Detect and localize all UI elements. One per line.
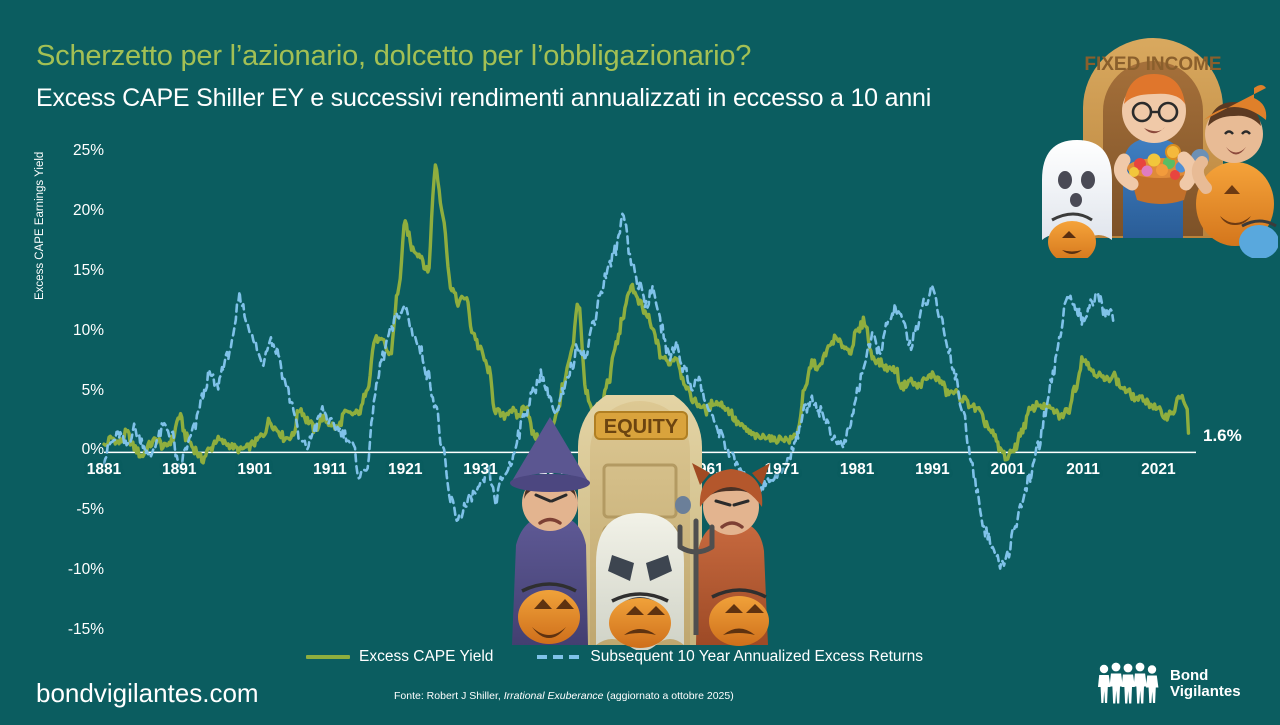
equity-door-illustration: EQUITY: [490, 395, 790, 650]
x-tick-label: 1881: [87, 461, 121, 479]
ghost-costume-figure: [1042, 140, 1112, 258]
x-tick-label: 1991: [915, 461, 949, 479]
angry-ghost-figure: [596, 513, 684, 650]
y-tick-label: 25%: [73, 142, 104, 160]
end-value-label: 1.6%: [1203, 426, 1242, 446]
legend-swatch-dashed-icon: [537, 655, 581, 659]
source-prefix: Fonte: Robert J Shiller,: [394, 690, 504, 702]
brand-line-1: Bond: [1170, 668, 1241, 684]
x-tick-label: 1891: [162, 461, 196, 479]
y-tick-label: 0%: [82, 441, 104, 459]
chart-legend: Excess CAPE Yield Subsequent 10 Year Ann…: [306, 648, 923, 666]
brand-line-2: Vigilantes: [1170, 684, 1241, 700]
x-tick-label: 1901: [237, 461, 271, 479]
y-tick-label: 20%: [73, 202, 104, 220]
source-suffix: (aggiornato a ottobre 2025): [604, 690, 734, 702]
source-italic-title: Irrational Exuberance: [504, 690, 604, 702]
fixed-income-door-illustration: FIXED INCOME: [1028, 8, 1278, 258]
brand-logo[interactable]: Bond Vigilantes: [1096, 662, 1241, 706]
site-url[interactable]: bondvigilantes.com: [36, 678, 259, 709]
page-subtitle: Excess CAPE Shiller EY e successivi rend…: [36, 84, 931, 113]
page-title: Scherzetto per l’azionario, dolcetto per…: [36, 40, 751, 73]
brand-text: Bond Vigilantes: [1170, 668, 1241, 700]
x-tick-label: 1981: [840, 461, 874, 479]
fixed-income-sign-text: FIXED INCOME: [1084, 54, 1221, 75]
candy-giver-figure: [1120, 74, 1193, 238]
y-tick-label: -10%: [68, 561, 104, 579]
legend-swatch-solid-icon: [306, 655, 350, 659]
slide-root: Scherzetto per l’azionario, dolcetto per…: [0, 0, 1280, 720]
equity-sign-text: EQUITY: [604, 416, 679, 438]
legend-item-excess-cape-yield[interactable]: Excess CAPE Yield: [306, 648, 493, 666]
legend-label-excess-cape-yield: Excess CAPE Yield: [359, 648, 493, 666]
y-tick-label: -15%: [68, 621, 104, 639]
legend-label-subsequent-returns: Subsequent 10 Year Annualized Excess Ret…: [590, 648, 923, 666]
y-tick-label: 15%: [73, 262, 104, 280]
legend-item-subsequent-returns[interactable]: Subsequent 10 Year Annualized Excess Ret…: [537, 648, 923, 666]
x-tick-label: 2001: [990, 461, 1024, 479]
y-tick-label: 5%: [82, 382, 104, 400]
vigilantes-people-icon: [1096, 662, 1160, 706]
x-tick-label: 2011: [1066, 461, 1100, 479]
y-tick-label: 10%: [73, 322, 104, 340]
source-note: Fonte: Robert J Shiller, Irrational Exub…: [394, 690, 734, 702]
y-tick-label: -5%: [76, 501, 104, 519]
x-tick-label: 2021: [1141, 461, 1175, 479]
x-tick-label: 1911: [313, 461, 347, 479]
y-axis-title: Excess CAPE Earnings Yield: [34, 286, 46, 300]
x-tick-label: 1921: [388, 461, 422, 479]
